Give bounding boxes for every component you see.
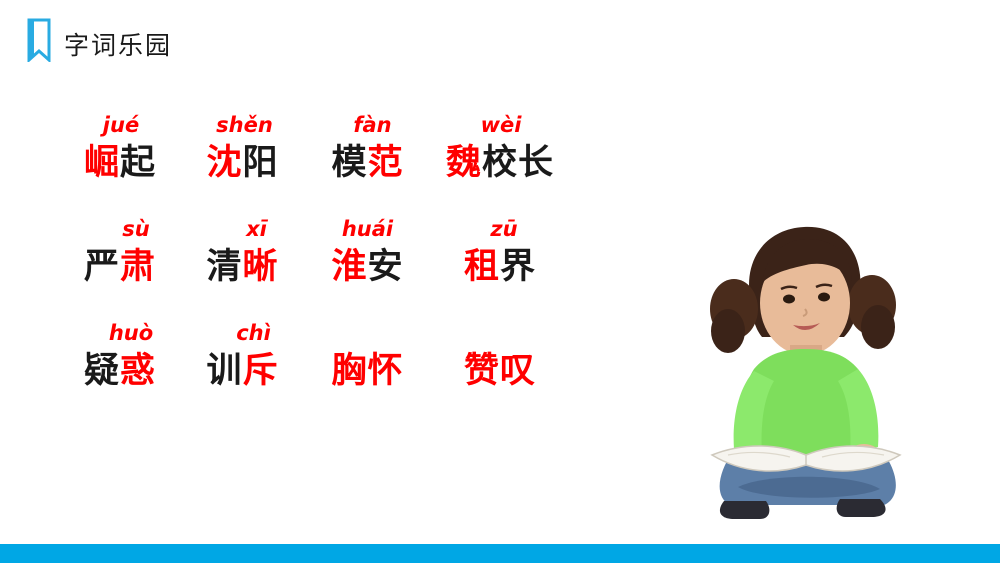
slide: 字词乐园 jué shěn fàn wèi 崛起 沈阳 模范 魏校长 sù xī bbox=[0, 0, 1000, 563]
word-term: 模范 bbox=[305, 140, 430, 186]
word-term: 胸怀 bbox=[305, 348, 430, 394]
word-row: jué shěn fàn wèi 崛起 沈阳 模范 魏校长 bbox=[60, 110, 620, 188]
hanzi-line: 严肃 清晰 淮安 租界 bbox=[60, 242, 620, 292]
hanzi-char: 疑 bbox=[84, 351, 120, 391]
hanzi-char: 惑 bbox=[120, 351, 156, 391]
word-term: 淮安 bbox=[305, 244, 430, 290]
hanzi-char: 肃 bbox=[120, 247, 156, 287]
word-list: jué shěn fàn wèi 崛起 沈阳 模范 魏校长 sù xī huái… bbox=[60, 110, 620, 422]
word-term: 赞叹 bbox=[430, 348, 570, 394]
hanzi-char: 界 bbox=[500, 247, 536, 287]
hanzi-line: 崛起 沈阳 模范 魏校长 bbox=[60, 138, 620, 188]
hanzi-char: 斥 bbox=[243, 351, 279, 391]
pinyin-text: chì bbox=[180, 320, 305, 346]
hanzi-char: 校 bbox=[482, 143, 518, 183]
hanzi-char: 严 bbox=[84, 247, 120, 287]
hanzi-char: 租 bbox=[464, 247, 500, 287]
word-term: 疑惑 bbox=[60, 348, 180, 394]
footer-bar bbox=[0, 537, 1000, 563]
hanzi-char: 晰 bbox=[243, 247, 279, 287]
word-term: 严肃 bbox=[60, 244, 180, 290]
hanzi-char: 怀 bbox=[368, 351, 404, 391]
footer-bar-highlight bbox=[0, 537, 1000, 544]
word-term: 租界 bbox=[430, 244, 570, 290]
hanzi-char: 赞 bbox=[464, 351, 500, 391]
pinyin-line: jué shěn fàn wèi bbox=[60, 110, 620, 138]
word-term: 崛起 bbox=[60, 140, 180, 186]
word-row: sù xī huái zū 严肃 清晰 淮安 租界 bbox=[60, 214, 620, 292]
pinyin-text: sù bbox=[60, 216, 180, 242]
hanzi-char: 叹 bbox=[500, 351, 536, 391]
pinyin-text: jué bbox=[60, 112, 180, 138]
hanzi-char: 沈 bbox=[206, 143, 242, 183]
hanzi-char: 起 bbox=[120, 143, 156, 183]
page-title: 字词乐园 bbox=[64, 26, 172, 62]
hanzi-char: 胸 bbox=[331, 351, 367, 391]
girl-reading-book-photo bbox=[658, 205, 958, 525]
pinyin-text: huái bbox=[305, 216, 430, 242]
hanzi-char: 安 bbox=[368, 247, 404, 287]
pinyin-text: shěn bbox=[180, 112, 305, 138]
hanzi-char: 阳 bbox=[243, 143, 279, 183]
hanzi-char: 崛 bbox=[84, 143, 120, 183]
hanzi-char: 长 bbox=[518, 143, 554, 183]
word-row: huò chì 疑惑 训斥 胸怀 赞叹 bbox=[60, 318, 620, 396]
pinyin-text: huò bbox=[60, 320, 180, 346]
pinyin-line: sù xī huái zū bbox=[60, 214, 620, 242]
hanzi-char: 范 bbox=[368, 143, 404, 183]
pinyin-text: zū bbox=[430, 216, 570, 242]
hanzi-char: 清 bbox=[206, 247, 242, 287]
word-term: 沈阳 bbox=[180, 140, 305, 186]
slide-header: 字词乐园 bbox=[0, 0, 1000, 78]
hanzi-char: 淮 bbox=[331, 247, 367, 287]
hanzi-line: 疑惑 训斥 胸怀 赞叹 bbox=[60, 346, 620, 396]
word-term: 魏校长 bbox=[430, 140, 570, 186]
pinyin-text: xī bbox=[180, 216, 305, 242]
word-term: 训斥 bbox=[180, 348, 305, 394]
pinyin-text: wèi bbox=[430, 112, 570, 138]
hanzi-char: 训 bbox=[206, 351, 242, 391]
pinyin-line: huò chì bbox=[60, 318, 620, 346]
pinyin-text: fàn bbox=[305, 112, 430, 138]
word-term: 清晰 bbox=[180, 244, 305, 290]
hanzi-char: 模 bbox=[331, 143, 367, 183]
bookmark-icon bbox=[26, 18, 52, 62]
hanzi-char: 魏 bbox=[446, 143, 482, 183]
